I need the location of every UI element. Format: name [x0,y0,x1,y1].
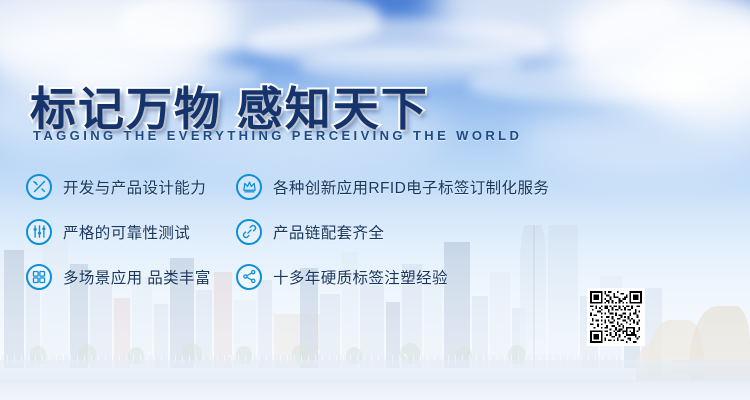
feature-column-left: 开发与产品设计能力 严格的可靠性测试 [26,168,211,303]
crown-icon [236,174,262,200]
feature-item: 各种创新应用RFID电子标签订制化服务 [236,168,549,205]
feature-label: 各种创新应用RFID电子标签订制化服务 [273,176,549,198]
feature-label: 严格的可靠性测试 [63,221,190,243]
qr-code[interactable] [587,288,645,346]
grid-icon [26,264,52,290]
feature-label: 十多年硬质标签注塑经验 [273,266,448,288]
feature-label: 产品链配套齐全 [273,221,384,243]
promo-banner: 标记万物 感知天下 TAGGING THE EVERYTHING PERCEIV… [0,0,750,400]
feature-item: 多场景应用 品类丰富 [26,258,211,295]
feature-item: 开发与产品设计能力 [26,168,211,205]
sliders-icon [26,219,52,245]
water-surface [0,380,750,400]
tools-icon [26,174,52,200]
share-icon [236,264,262,290]
feature-item: 产品链配套齐全 [236,213,549,250]
link-icon [236,219,262,245]
page-subtitle: TAGGING THE EVERYTHING PERCEIVING THE WO… [33,128,522,143]
feature-item: 严格的可靠性测试 [26,213,211,250]
feature-label: 开发与产品设计能力 [63,176,206,198]
feature-label: 多场景应用 品类丰富 [63,266,211,288]
feature-item: 十多年硬质标签注塑经验 [236,258,549,295]
qr-code-image [590,291,642,343]
feature-column-right: 各种创新应用RFID电子标签订制化服务 产品链配套齐全 [236,168,549,303]
waterfront-promenade [0,360,750,382]
